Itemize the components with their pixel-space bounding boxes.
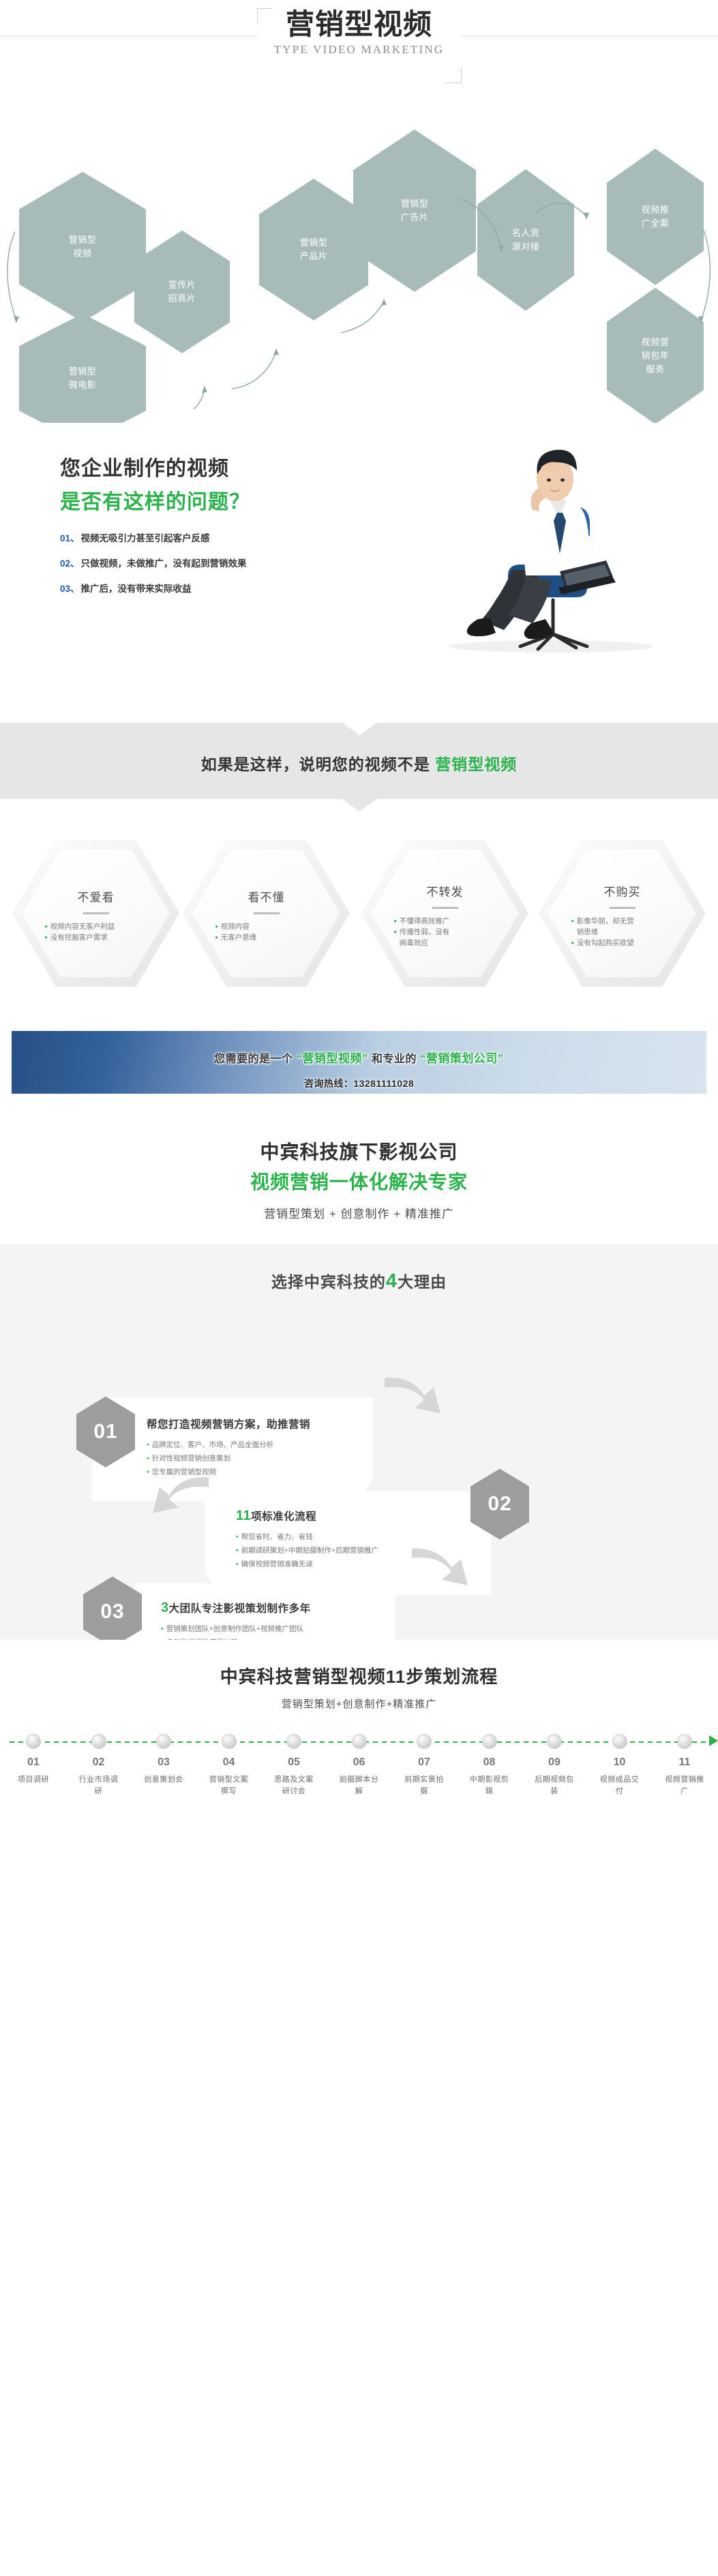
cta-text-b: 和专业的 [368,1053,420,1065]
step-label: 视频成品交付 [599,1774,641,1797]
bullet-dot-icon: • [147,1452,149,1465]
bullet-text: 病毒效应 [400,938,428,948]
problem-hex-not-understand[interactable]: 看不懂 •视频内容 •无客户思维 [183,840,350,987]
bullet-item: •品牌定位、客户、市场、产品全面分析 [147,1439,373,1451]
step-dot-icon [26,1734,41,1749]
problem-item-number: 03、 [60,581,80,595]
bullet-item: •影像华丽，却无营 [571,916,674,927]
step-number: 04 [208,1756,250,1769]
hex-label-line: 宣传片 [168,278,196,292]
step-dot-icon [352,1734,367,1749]
page-subtitle: TYPE VIDEO MARKETING [267,43,452,57]
bullet-text: 确保视频营销准确无误 [241,1558,313,1570]
bullet-dot-icon: • [571,916,574,927]
bullet-item: •帮您省时、省力、省钱 [236,1531,491,1543]
step-item-01[interactable]: 01 项目调研 [12,1734,55,1797]
bullet-text: 影像华丽，却无营 [577,916,634,927]
step-dot-icon [677,1734,692,1749]
steps-title: 中宾科技营销型视频11步策划流程 [0,1663,718,1688]
step-label: 思路及文案研讨会 [273,1774,315,1797]
hex-label-line: 广告片 [401,211,429,224]
section-problem-hexagons: 不爱看 •视频内容无客户利益 •没有挖掘客户需求 看不懂 •视频内容 •无客户思… [0,818,718,1023]
problem-title-line1: 您企业制作的视频 [60,451,250,481]
step-dot-icon [286,1734,301,1749]
steps-title-post: 步策划流程 [406,1666,498,1687]
bullet-text: 帮您省时、省力、省钱 [241,1531,313,1543]
bullet-dot-icon: • [147,1439,149,1451]
page-header: 营销型视频 TYPE VIDEO MARKETING [0,0,718,116]
problem-hex-title: 不爱看 [78,888,115,905]
bullet-text: 营销策划团队+创意制作团队+视频推广团队 [166,1623,303,1635]
hex-label-line: 微电影 [69,378,97,392]
step-number: 05 [273,1756,315,1769]
hex-label-line: 营销型 [300,236,328,250]
timeline-items: 01 项目调研 02 行业市场调研 03 创意策划会 04 营销型文案撰写 [0,1734,718,1797]
problem-title: 您企业制作的视频 是否有这样的问题？ [60,451,250,515]
step-dot-icon [417,1734,432,1749]
hex-marketing-video[interactable]: 营销型 视频 [19,172,146,322]
bullet-text: 传播性弱，没有 [400,927,450,938]
hex-content: 不转发 •不懂得高效推广 •传播性弱，没有 •病毒效应 [361,840,528,987]
step-item-03[interactable]: 03 创意策划会 [143,1734,185,1797]
banner-notch-bottom-icon [342,799,376,811]
steps-title-pre: 中宾科技营销型视频 [220,1666,386,1687]
problem-item: 02、 只做视频，未做推广，没有起到营销效果 [60,556,247,569]
reasons-title: 选择中宾科技的4大理由 [0,1269,718,1293]
problem-title-line2: 是否有这样的问题？ [60,485,250,515]
hex-label-line: 视频 [69,247,97,260]
bullet-text: 销思维 [577,927,599,938]
cta-quote-company: “营销策划公司” [420,1052,504,1065]
company-title: 中宾科技旗下影视公司 [0,1137,718,1165]
title-divider [83,912,109,914]
section-grey-banner: 如果是这样，说明您的视频不是 营销型视频 [0,709,718,818]
hex-celebrity-resource[interactable]: 名人资 源对接 [477,169,574,311]
bullet-item: •不懂得高效推广 [394,916,496,927]
bullet-item: •无客户思维 [215,932,318,943]
step-dot-icon [547,1734,562,1749]
bullet-text: 不懂得高效推广 [400,916,450,927]
hex-label-line: 产品片 [300,250,328,263]
section-header-services: 营销型视频 TYPE VIDEO MARKETING 营销型 视频 宣传片 招商… [0,0,718,423]
problem-item-number: 01、 [60,530,80,544]
bullet-text: 没有勾起购买欲望 [577,938,634,948]
hex-promo-recruit-film[interactable]: 宣传片 招商片 [134,230,230,353]
problem-item: 01、 视频无吸引力甚至引起客户反感 [60,530,247,544]
hex-label-line: 广全案 [642,217,670,230]
hex-content: 不爱看 •视频内容无客户利益 •没有挖掘客户需求 [12,840,179,987]
bullet-text: 视频内容无客户利益 [50,921,115,932]
service-hexagon-field: 营销型 视频 宣传片 招商片 营销型 微电影 营销型 产品片 [0,116,718,409]
company-tagline: 营销型策划 + 创意制作 + 精准推广 [0,1204,718,1221]
cta-hotline[interactable]: 咨询热线：13281111028 [0,1066,718,1090]
section-company: 中宾科技旗下影视公司 视频营销一体化解决专家 营销型策划 + 创意制作 + 精准… [0,1118,718,1244]
hex-marketing-ad-film[interactable]: 营销型 广告片 [353,130,476,292]
bullet-item: •视频内容 [215,921,318,932]
step-item-08[interactable]: 08 中期影视剪辑 [468,1734,511,1797]
hex-video-promo-plan[interactable]: 视频推 广全案 [607,149,704,285]
bullet-item: •病毒效应 [394,938,496,948]
bullet-text: 前期调研策划+中期拍摄制作+后期营销推广 [241,1544,378,1557]
bullet-text: 针对性视频营销创意策划 [152,1452,231,1465]
bullet-text: 没有挖掘客户需求 [50,932,108,943]
title-divider [432,907,458,909]
step-item-02[interactable]: 02 行业市场调研 [78,1734,120,1797]
problem-hex-bullets: •不懂得高效推广 •传播性弱，没有 •病毒效应 [394,916,496,948]
steps-title-number: 11 [386,1666,406,1687]
problem-hex-bullets: •视频内容无客户利益 •没有挖掘客户需求 [45,921,147,943]
reason-heading-text: 项标准化流程 [251,1511,316,1523]
step-number: 06 [338,1756,380,1769]
reason-heading-text: 帮您打造视频营销方案，助推营销 [147,1419,310,1431]
hex-label-line: 视频推 [642,203,670,217]
page-title: 营销型视频 [267,7,452,42]
hex-content: 不购买 •影像华丽，却无营 •销思维 •没有勾起购买欲望 [539,840,706,987]
hex-label-line: 源对接 [512,240,540,254]
step-item-04[interactable]: 04 营销型文案撰写 [208,1734,250,1797]
bullet-dot-icon: • [215,921,218,932]
step-dot-icon [612,1734,627,1749]
hex-label-line: 名人资 [512,226,540,240]
step-number: 08 [468,1756,511,1769]
steps-subtitle: 营销型策划+创意制作+精准推广 [0,1696,718,1711]
step-dot-icon [91,1734,106,1749]
bullet-dot-icon: • [215,932,218,943]
bullet-item: •没有挖掘客户需求 [45,932,147,943]
step-dot-icon [222,1734,237,1749]
step-number: 10 [599,1756,641,1769]
hex-label-line: 服务 [642,363,670,376]
hex-content: 看不懂 •视频内容 •无客户思维 [183,840,350,987]
bullet-dot-icon: • [394,916,397,927]
bullet-dot-icon: • [571,938,574,948]
reason-heading: 3大团队专注影视策划制作多年 [161,1601,395,1616]
flow-arrow-3-icon [409,1544,472,1588]
problem-hex-bullets: •影像华丽，却无营 •销思维 •没有勾起购买欲望 [571,916,674,948]
step-number: 03 [143,1756,185,1769]
reason-heading: 11项标准化流程 [236,1509,491,1524]
step-number: 09 [533,1756,575,1769]
bullet-text: 视频内容 [221,921,250,932]
reasons-title-post: 大理由 [398,1273,447,1291]
problem-hex-not-watch[interactable]: 不爱看 •视频内容无客户利益 •没有挖掘客户需求 [12,840,179,987]
grey-banner-text: 如果是这样，说明您的视频不是 营销型视频 [0,709,718,775]
hex-label-line: 招商片 [168,292,196,305]
step-number: 01 [12,1756,55,1769]
problem-item-text: 推广后，没有带来实际收益 [81,581,192,595]
step-label: 视频营销推广 [663,1774,706,1797]
problem-list: 01、 视频无吸引力甚至引起客户反感 02、 只做视频，未做推广，没有起到营销效… [60,530,247,606]
problem-hex-title: 不转发 [427,882,464,899]
problem-hex-title: 看不懂 [248,888,285,905]
bullet-item: •针对性视频营销创意策划 [147,1452,373,1465]
reason-heading-number: 3 [161,1600,169,1615]
bullet-item: •营销策划团队+创意制作团队+视频推广团队 [161,1623,395,1635]
landing-page: 营销型视频 TYPE VIDEO MARKETING 营销型 视频 宣传片 招商… [0,0,718,1911]
problem-item-text: 只做视频，未做推广，没有起到营销效果 [81,556,247,569]
header-title-box: 营销型视频 TYPE VIDEO MARKETING [257,5,462,65]
reasons-title-pre: 选择中宾科技的 [271,1273,386,1291]
grey-banner-prefix: 如果是这样，说明您的视频不是 [201,755,435,773]
problem-hex-not-share[interactable]: 不转发 •不懂得高效推广 •传播性弱，没有 •病毒效应 [361,840,528,987]
hex-annual-service[interactable]: 视频营 销包年 服务 [607,288,704,424]
hex-label-line: 销包年 [642,349,670,363]
step-item-05[interactable]: 05 思路及文案研讨会 [273,1734,315,1797]
hex-marketing-product-film[interactable]: 营销型 产品片 [259,179,368,320]
step-label: 拍摄脚本分解 [338,1774,380,1797]
bullet-item: •视频内容无客户利益 [45,921,147,932]
problem-item: 03、 推广后，没有带来实际收益 [60,581,247,595]
step-dot-icon [482,1734,497,1749]
problem-item-number: 02、 [60,556,80,569]
step-label: 营销型文案撰写 [208,1774,250,1797]
step-item-06[interactable]: 06 拍摄脚本分解 [338,1734,380,1797]
step-label: 后期视频包装 [533,1774,575,1797]
company-subtitle: 视频营销一体化解决专家 [0,1167,718,1195]
bullet-item: •销思维 [571,927,674,938]
reason-heading: 帮您打造视频营销方案，助推营销 [147,1417,373,1432]
bullet-dot-icon: • [161,1623,164,1635]
grey-banner-highlight: 营销型视频 [435,755,517,773]
section-problem-intro: 您企业制作的视频 是否有这样的问题？ 01、 视频无吸引力甚至引起客户反感 02… [0,423,718,709]
bullet-dot-icon: • [236,1558,239,1570]
step-number: 11 [663,1756,706,1769]
steps-timeline: 01 项目调研 02 行业市场调研 03 创意策划会 04 营销型文案撰写 [0,1734,718,1884]
businessman-on-chair-photo [404,430,691,655]
hex-label-line: 营销型 [69,365,97,378]
cta-text-a: 您需要的是一个 [214,1053,296,1065]
hex-label-line: 营销型 [69,233,97,247]
bullet-dot-icon: • [45,921,48,932]
bullet-dot-icon: • [394,927,397,938]
bullet-text: 无客户思维 [221,932,257,943]
reasons-title-number: 4 [386,1270,398,1292]
step-number: 02 [78,1756,120,1769]
step-label: 行业市场调研 [78,1774,120,1797]
problem-hex-bullets: •视频内容 •无客户思维 [215,921,318,943]
step-dot-icon [156,1734,171,1749]
section-eleven-steps: 中宾科技营销型视频11步策划流程 营销型策划+创意制作+精准推广 01 项目调研… [0,1640,718,1911]
step-item-10[interactable]: 10 视频成品交付 [599,1734,641,1797]
bullet-text: 品牌定位、客户、市场、产品全面分析 [152,1439,274,1451]
step-number: 07 [403,1756,445,1769]
step-label: 前期实景拍摄 [403,1774,445,1797]
reason-heading-number: 11 [236,1508,251,1523]
title-divider [610,907,635,909]
title-divider [254,912,280,914]
problem-item-text: 视频无吸引力甚至引起客户反感 [81,530,210,544]
cta-quote-video: “营销型视频” [297,1052,369,1065]
step-label: 项目调研 [12,1774,55,1786]
step-item-11[interactable]: 11 视频营销推广 [663,1734,706,1797]
bullet-dot-icon: • [45,932,48,943]
bullet-dot-icon: • [236,1544,239,1557]
cta-headline: 您需要的是一个 “营销型视频” 和专业的 “营销策划公司” [0,1023,718,1066]
step-item-07[interactable]: 07 前期实景拍摄 [403,1734,445,1797]
reason-heading-text: 大团队专注影视策划制作多年 [169,1603,311,1615]
bullet-item: •没有勾起购买欲望 [571,938,674,948]
flow-arrow-2-icon [149,1471,211,1514]
bullet-item: •传播性弱，没有 [394,927,496,938]
bullet-dot-icon: • [236,1531,239,1543]
step-item-09[interactable]: 09 后期视频包装 [533,1734,575,1797]
section-four-reasons: 选择中宾科技的4大理由 帮您打造视频营销方案，助推营销 •品牌定位、客户、市场、… [0,1244,718,1640]
hex-label-line: 视频营 [642,335,670,349]
problem-hex-title: 不购买 [604,882,641,899]
problem-hex-not-buy[interactable]: 不购买 •影像华丽，却无营 •销思维 •没有勾起购买欲望 [539,840,706,987]
step-label: 中期影视剪辑 [468,1774,511,1797]
step-label: 创意策划会 [143,1774,185,1786]
section-cta-banner: 您需要的是一个 “营销型视频” 和专业的 “营销策划公司” 咨询热线：13281… [0,1023,718,1118]
hex-label-line: 营销型 [401,197,429,211]
flow-arrow-1-icon [382,1371,445,1415]
